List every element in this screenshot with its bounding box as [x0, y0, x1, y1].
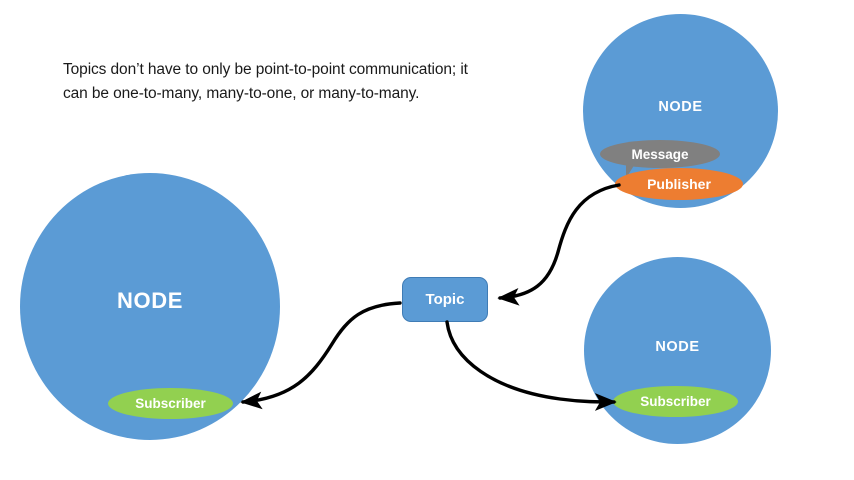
arrow-publisher-to-topic	[500, 185, 619, 298]
caption-text: Topics don’t have to only be point-to-po…	[63, 58, 483, 106]
topic-box-label: Topic	[426, 291, 465, 308]
node-bottom-right[interactable]: NODE Subscriber	[584, 257, 771, 444]
message-pill[interactable]: Message	[600, 140, 720, 168]
message-pill-label: Message	[631, 147, 688, 162]
subscriber-pill-right[interactable]: Subscriber	[613, 386, 738, 417]
node-bottom-right-label: NODE	[584, 339, 771, 355]
node-top-right[interactable]: NODE Message Publisher	[583, 14, 778, 208]
topic-box[interactable]: Topic	[402, 277, 488, 322]
publisher-pill-label: Publisher	[647, 176, 711, 192]
diagram-canvas: Topics don’t have to only be point-to-po…	[0, 0, 854, 480]
subscriber-pill-left-label: Subscriber	[135, 396, 206, 411]
node-left[interactable]: NODE Subscriber	[20, 173, 280, 440]
node-left-label: NODE	[20, 288, 280, 314]
publisher-pill[interactable]: Publisher	[615, 168, 743, 200]
subscriber-pill-right-label: Subscriber	[640, 394, 711, 409]
subscriber-pill-left[interactable]: Subscriber	[108, 388, 233, 419]
node-top-right-label: NODE	[583, 99, 778, 115]
